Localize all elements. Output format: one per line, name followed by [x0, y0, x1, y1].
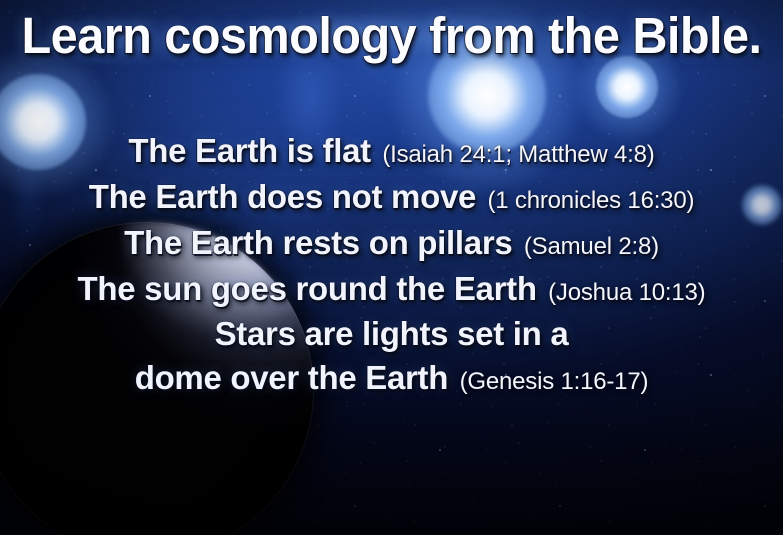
poster: Learn cosmology from the Bible. The Eart… — [0, 0, 783, 535]
claim-reference: (Samuel 2:8) — [524, 233, 659, 260]
list-item: The sun goes round the Earth (Joshua 10:… — [0, 266, 783, 312]
list-item: The Earth does not move (1 chronicles 16… — [0, 174, 783, 220]
claim-reference: (Joshua 10:13) — [548, 279, 705, 306]
claim-statement: The Earth rests on pillars — [124, 224, 512, 261]
claim-reference: (Genesis 1:16-17) — [460, 368, 649, 395]
list-item: Stars are lights set in a — [0, 312, 783, 356]
claim-statement: The sun goes round the Earth — [78, 270, 537, 307]
list-item-continuation: dome over the Earth (Genesis 1:16-17) — [0, 356, 783, 400]
claim-statement: Stars are lights set in a — [215, 315, 569, 352]
claim-statement: The Earth is flat — [128, 132, 370, 169]
claim-statement-line2: dome over the Earth — [135, 359, 448, 396]
claims-list: The Earth is flat (Isaiah 24:1; Matthew … — [0, 128, 783, 400]
poster-content: Learn cosmology from the Bible. The Eart… — [0, 0, 783, 535]
list-item: The Earth rests on pillars (Samuel 2:8) — [0, 220, 783, 266]
claim-reference: (Isaiah 24:1; Matthew 4:8) — [382, 141, 654, 168]
claim-reference: (1 chronicles 16:30) — [488, 187, 695, 214]
page-title: Learn cosmology from the Bible. — [18, 8, 766, 64]
list-item: The Earth is flat (Isaiah 24:1; Matthew … — [0, 128, 783, 174]
claim-statement: The Earth does not move — [89, 178, 476, 215]
